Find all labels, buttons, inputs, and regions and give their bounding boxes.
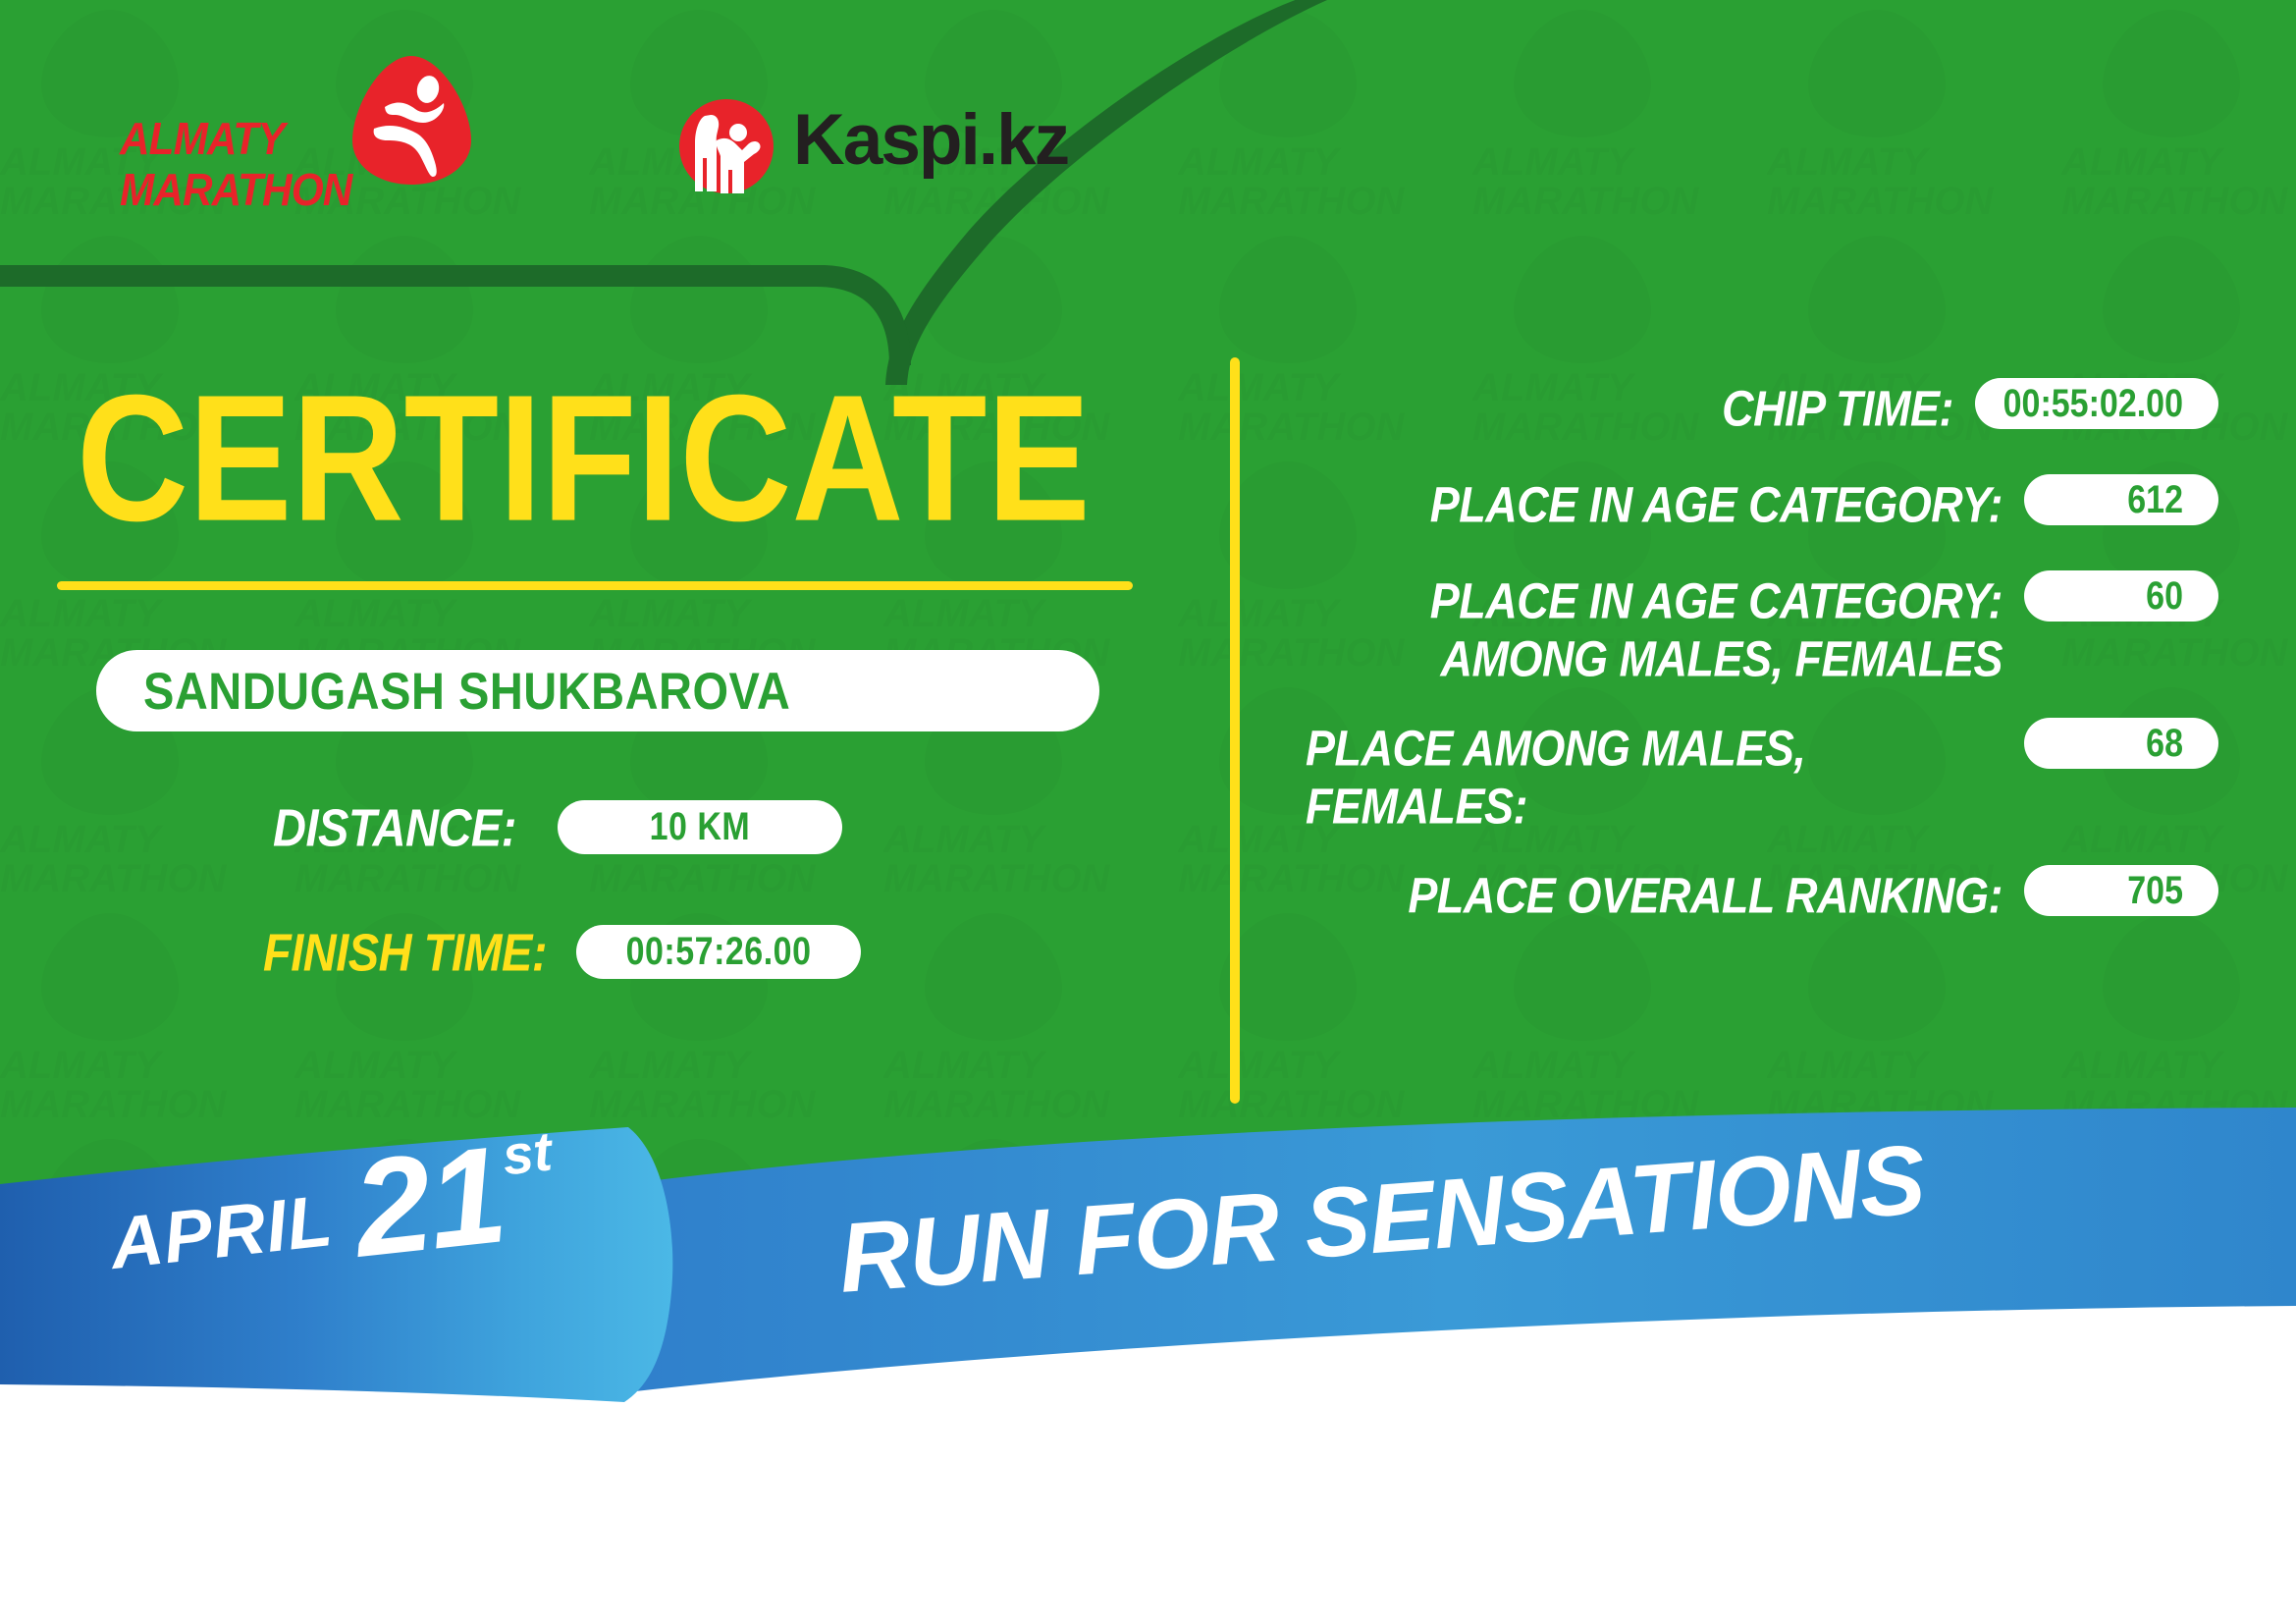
almaty-marathon-logo: ALMATY MARATHON <box>120 54 444 216</box>
chip-time-value: 00:55:02.00 <box>2003 381 2183 426</box>
kaspi-family-circle-icon <box>677 97 775 195</box>
place-overall-label: PLACE OVERALL RANKING: <box>1306 865 2002 925</box>
place-age-category-gender-row: PLACE IN AGE CATEGORY:AMONG MALES, FEMAL… <box>1306 570 2218 675</box>
distance-value-pill: 10 KM <box>558 800 842 854</box>
finish-time-row: FINISH TIME: 00:57:26.00 <box>263 925 861 979</box>
certificate-title: CERTIFICATE <box>77 373 1091 544</box>
kaspi-wordmark: Kaspi.kz <box>793 99 1068 181</box>
almaty-marathon-line2: MARATHON <box>120 164 373 215</box>
distance-value: 10 KM <box>650 804 751 849</box>
event-month: APRIL <box>106 1178 337 1285</box>
runner-in-teardrop-icon <box>350 54 473 187</box>
almaty-marathon-wordmark: ALMATY MARATHON <box>120 113 373 215</box>
header-logo-bar: ALMATY MARATHON Kaspi.kz <box>0 0 1227 285</box>
place-age-category-gender-value-pill: 60 <box>2024 570 2218 622</box>
participant-name-field: SANDUGASH SHUKBAROVA <box>96 650 1099 731</box>
place-among-gender-label: PLACE AMONG MALES,FEMALES: <box>1306 718 2002 836</box>
certificate-page: ALMATY MARATHON ALMATY <box>0 0 2296 1624</box>
finish-time-value-pill: 00:57:26.00 <box>576 925 861 979</box>
place-age-category-gender-label: PLACE IN AGE CATEGORY:AMONG MALES, FEMAL… <box>1306 570 2002 688</box>
kaspi-logo: Kaspi.kz <box>677 93 1070 211</box>
sponsor-footer: Sulpak SANOFI Empowering Life ORIFLAME S… <box>0 1429 2296 1624</box>
event-day: 21 <box>348 1139 508 1265</box>
place-age-category-value: 612 <box>2127 477 2183 522</box>
place-among-gender-value-pill: 68 <box>2024 718 2218 769</box>
place-overall-row: PLACE OVERALL RANKING: 705 <box>1306 865 2218 918</box>
place-age-category-row: PLACE IN AGE CATEGORY: 612 <box>1306 474 2218 527</box>
chip-time-value-pill: 00:55:02.00 <box>1975 378 2218 429</box>
place-overall-value-pill: 705 <box>2024 865 2218 916</box>
place-age-category-label: PLACE IN AGE CATEGORY: <box>1306 474 2002 534</box>
participant-name-value: SANDUGASH SHUKBAROVA <box>143 661 790 722</box>
vertical-divider <box>1230 357 1240 1104</box>
distance-label: DISTANCE: <box>273 796 516 858</box>
finish-time-value: 00:57:26.00 <box>626 929 812 974</box>
title-underline-rule <box>57 581 1133 590</box>
finish-time-label: FINISH TIME: <box>263 921 547 983</box>
results-stats-list: CHIP TIME: 00:55:02.00 PLACE IN AGE CATE… <box>1306 378 2218 951</box>
place-among-gender-value: 68 <box>2146 721 2183 766</box>
almaty-marathon-line1: ALMATY <box>120 113 373 164</box>
chip-time-row: CHIP TIME: 00:55:02.00 <box>1306 378 2218 431</box>
place-among-gender-row: PLACE AMONG MALES,FEMALES: 68 <box>1306 718 2218 822</box>
place-overall-value: 705 <box>2127 868 2183 913</box>
event-day-ordinal: st <box>500 1118 556 1187</box>
place-age-category-gender-value: 60 <box>2146 573 2183 619</box>
distance-row: DISTANCE: 10 KM <box>273 800 842 854</box>
place-age-category-value-pill: 612 <box>2024 474 2218 525</box>
chip-time-label: CHIP TIME: <box>1306 378 1953 438</box>
